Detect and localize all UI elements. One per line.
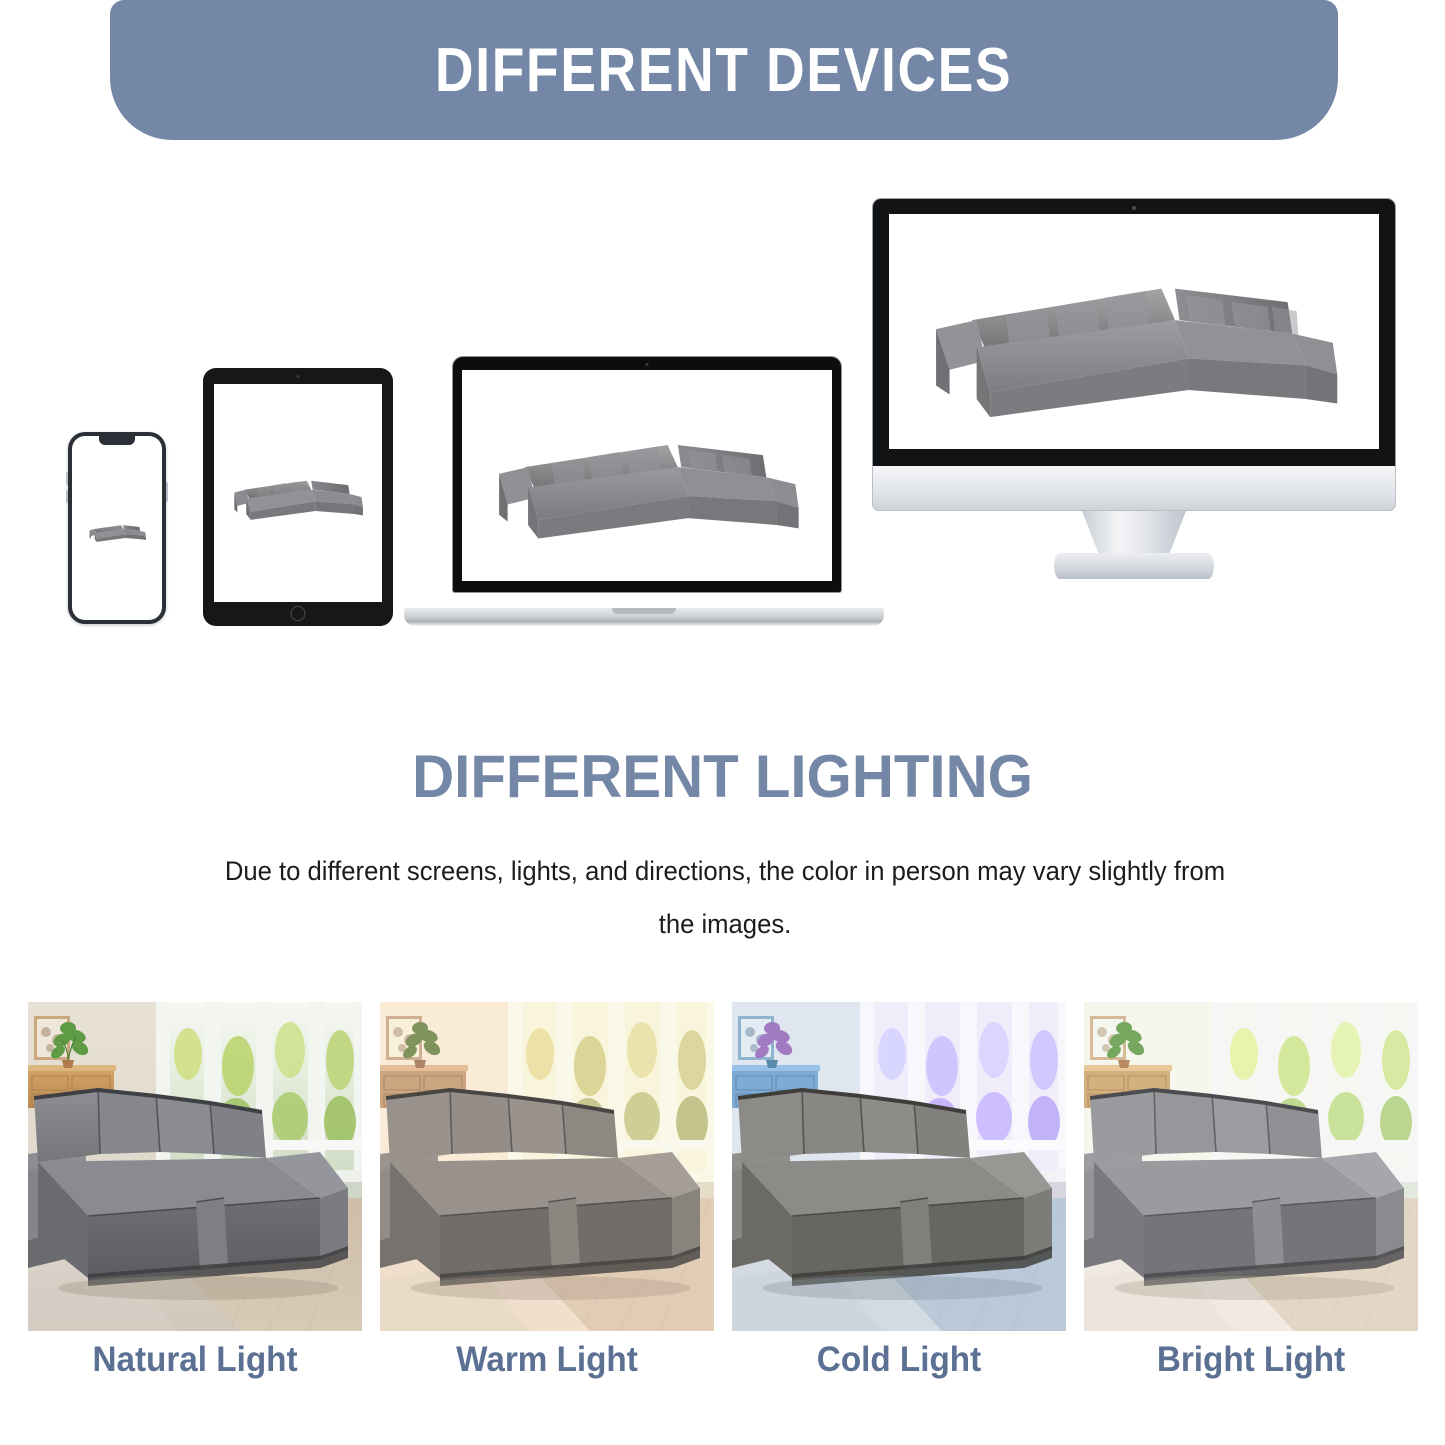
room-scene-warm — [380, 1002, 714, 1331]
monitor-screen — [889, 214, 1379, 449]
tablet-home-button — [291, 606, 306, 621]
sofa-product-image-laptop — [477, 399, 817, 552]
room-scene-cold — [732, 1002, 1066, 1331]
lighting-section-title: DIFFERENT LIGHTING — [22, 742, 1424, 811]
lighting-label-warm: Warm Light — [388, 1340, 705, 1400]
lighting-photo-natural — [28, 1002, 362, 1331]
monitor-chin — [872, 466, 1396, 511]
monitor-stand-neck — [1082, 511, 1186, 559]
sofa-product-image-tablet — [224, 460, 372, 527]
laptop-trackpad-notch — [612, 608, 676, 614]
laptop-base — [404, 608, 884, 626]
laptop-screen — [462, 370, 832, 581]
lighting-photo-cold — [732, 1002, 1066, 1331]
devices-section — [0, 150, 1445, 670]
lighting-photo-labels: Natural Light Warm Light Cold Light Brig… — [28, 1340, 1418, 1400]
phone-volume-up-button — [66, 472, 68, 485]
room-scene-bright — [1084, 1002, 1418, 1331]
lighting-photo-bright — [1084, 1002, 1418, 1331]
device-laptop — [404, 356, 884, 626]
lighting-section-description: Due to different screens, lights, and di… — [217, 845, 1234, 951]
tablet-camera-icon — [297, 375, 300, 378]
monitor-bezel — [872, 198, 1396, 466]
monitor-stand-base — [1054, 553, 1214, 579]
lighting-label-cold: Cold Light — [740, 1340, 1057, 1400]
lighting-photo-grid — [28, 1002, 1418, 1331]
lighting-photo-warm — [380, 1002, 714, 1331]
header-banner: DIFFERENT DEVICES — [110, 0, 1338, 140]
sofa-product-image-phone — [85, 516, 150, 545]
tablet-screen — [214, 384, 382, 602]
phone-volume-down-button — [66, 490, 68, 503]
phone-notch — [99, 436, 135, 445]
laptop-lid — [452, 356, 842, 593]
device-monitor — [872, 198, 1396, 648]
device-phone — [68, 432, 166, 624]
lighting-label-natural: Natural Light — [36, 1340, 353, 1400]
laptop-camera-icon — [646, 363, 649, 366]
header-banner-title: DIFFERENT DEVICES — [435, 35, 1012, 106]
monitor-camera-icon — [1132, 206, 1136, 210]
room-scene-natural — [28, 1002, 362, 1331]
phone-screen — [72, 436, 162, 620]
sofa-product-image-monitor — [909, 230, 1360, 433]
lighting-label-bright: Bright Light — [1092, 1340, 1409, 1400]
phone-power-button — [166, 482, 168, 502]
device-tablet — [203, 368, 393, 626]
